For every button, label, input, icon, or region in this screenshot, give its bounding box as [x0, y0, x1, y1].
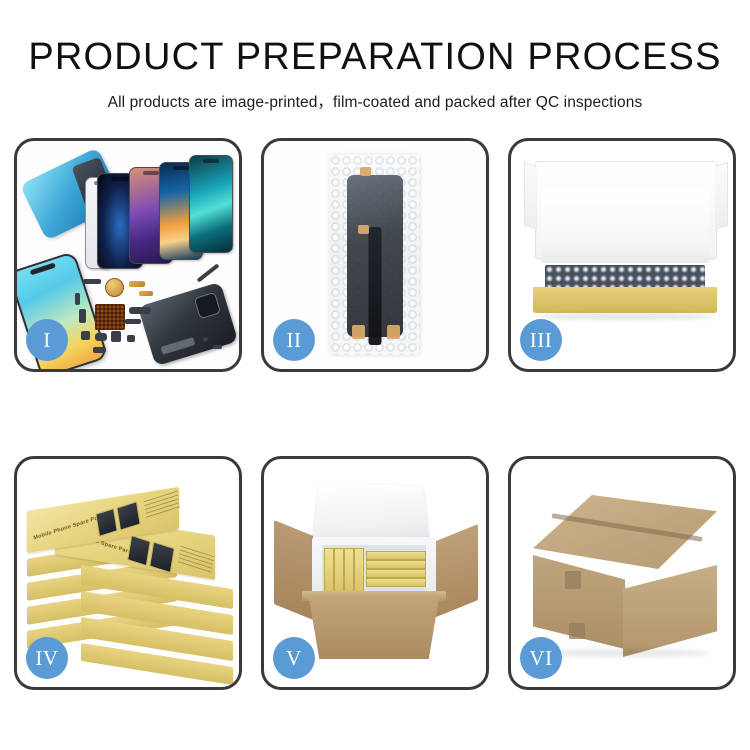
- yellow-box-item: [324, 548, 334, 592]
- step-badge-5: V: [273, 637, 315, 679]
- step-panel-bubble-wrapped-screen: II: [261, 138, 489, 372]
- speaker-coil-icon: [105, 278, 124, 297]
- steps-grid: I II: [14, 138, 736, 690]
- step-badge-2: II: [273, 319, 315, 361]
- step-numeral: I: [43, 328, 51, 353]
- header: PRODUCT PREPARATION PROCESS All products…: [0, 0, 750, 112]
- yellow-box-item: [344, 548, 354, 592]
- tape-icon: [352, 325, 365, 339]
- foam-cavity: [322, 545, 426, 593]
- product-preparation-infographic: PRODUCT PREPARATION PROCESS All products…: [0, 0, 750, 750]
- yellow-box-item: [354, 548, 364, 592]
- step-badge-3: III: [520, 319, 562, 361]
- yellow-box-item: [366, 551, 426, 560]
- yellow-box-item: [366, 569, 426, 578]
- phone-artwork-icon: [149, 541, 175, 573]
- page-subtitle: All products are image-printed，film-coat…: [0, 90, 750, 112]
- tape-icon: [358, 225, 369, 234]
- step-badge-6: VI: [520, 637, 562, 679]
- box-label-text: Mobile Phone Spare Parts: [33, 513, 106, 542]
- carton-tape-icon: [565, 571, 581, 589]
- carton-body: [300, 597, 448, 659]
- phone-artwork-icon: [127, 535, 151, 566]
- step-numeral: IV: [35, 646, 58, 671]
- step-numeral: II: [287, 328, 302, 353]
- copper-shield-icon: [95, 304, 125, 330]
- step-numeral: VI: [529, 646, 552, 671]
- box-spec-lines: [144, 491, 180, 519]
- page-title: PRODUCT PREPARATION PROCESS: [0, 38, 750, 78]
- flex-cable-icon: [369, 227, 382, 345]
- phone-artwork-icon: [116, 501, 140, 531]
- screw-icon: [213, 345, 222, 349]
- step-panel-carton-with-foam-box: V: [261, 456, 489, 690]
- step-panel-phone-parts-layout: I: [14, 138, 242, 372]
- component-chip-icon: [129, 307, 151, 314]
- foam-sheet-icon: [541, 189, 709, 263]
- carton-tape-icon: [569, 623, 585, 639]
- flex-connector-icon: [129, 281, 145, 287]
- phone-lineup-icon: [85, 155, 235, 267]
- component-chip-icon: [93, 347, 106, 353]
- phone-artwork-icon: [95, 508, 118, 537]
- drop-shadow: [537, 313, 715, 320]
- component-chip-icon: [111, 331, 121, 342]
- yellow-box-front-icon: [533, 287, 717, 313]
- component-chip-icon: [81, 331, 90, 340]
- component-chip-icon: [125, 319, 141, 324]
- teal-phone-icon: [189, 155, 233, 253]
- step-panel-open-yellow-box-with-foam: III: [508, 138, 736, 372]
- step-panel-stacked-yellow-boxes: Mobile Phone Spare Parts Mobile Phone Sp…: [14, 456, 242, 690]
- yellow-box-item: [366, 578, 426, 587]
- yellow-box-item: [334, 548, 344, 592]
- step-panel-sealed-shipping-carton: VI: [508, 456, 736, 690]
- component-chip-icon: [83, 279, 101, 284]
- screw-icon: [203, 337, 208, 342]
- box-spec-lines: [178, 546, 214, 574]
- carton-right-face: [623, 565, 717, 657]
- tape-icon: [360, 167, 371, 176]
- bubble-wrap-bag-icon: [330, 155, 420, 355]
- flex-connector-icon: [139, 291, 153, 296]
- step-numeral: III: [530, 328, 552, 353]
- component-chip-icon: [75, 293, 80, 305]
- step-badge-1: I: [26, 319, 68, 361]
- step-badge-4: IV: [26, 637, 68, 679]
- tape-icon: [387, 325, 400, 339]
- drop-shadow: [541, 649, 711, 657]
- foam-lid-icon: [312, 485, 430, 543]
- component-chip-icon: [127, 335, 135, 342]
- step-numeral: V: [286, 646, 302, 671]
- yellow-box-item: [366, 560, 426, 569]
- component-chip-icon: [79, 309, 86, 323]
- carton-top-face: [533, 495, 717, 569]
- component-chip-icon: [95, 333, 107, 341]
